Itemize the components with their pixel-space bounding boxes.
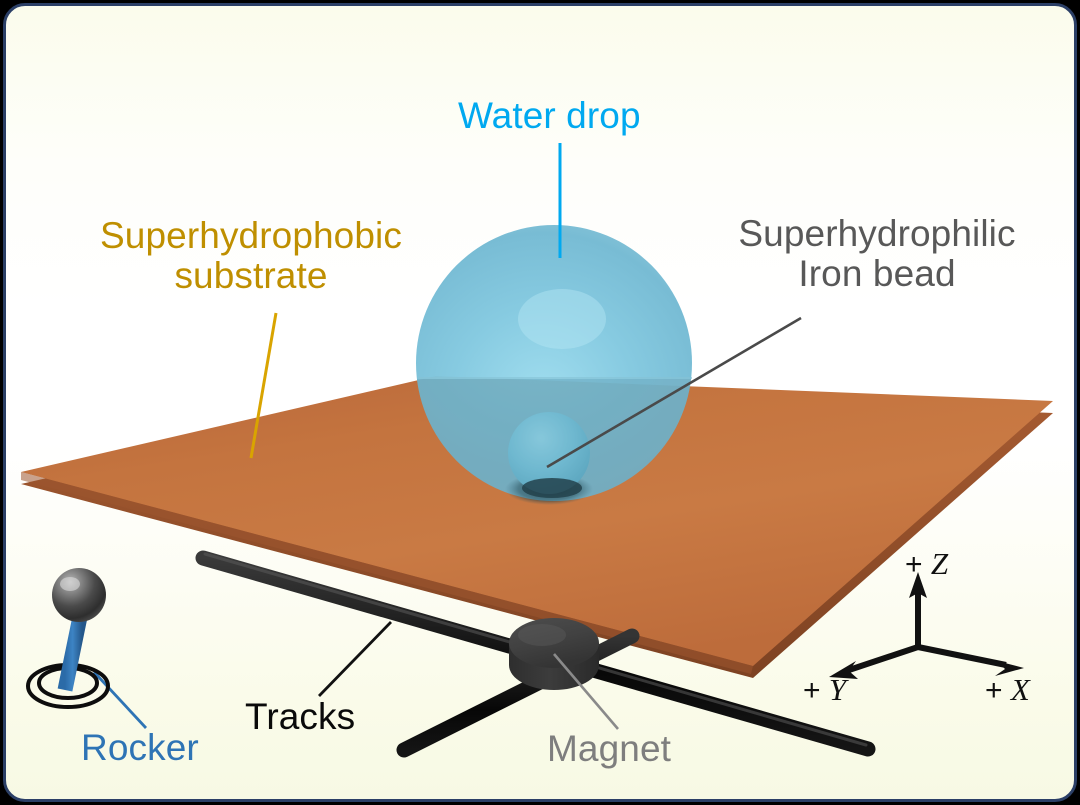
axis-z-sign: +	[905, 548, 923, 581]
water-drop-highlight	[518, 289, 606, 349]
axis-label-x: + X	[985, 672, 1030, 708]
axis-x-sign: +	[985, 674, 1003, 707]
label-superhydrophilic-iron-bead: Superhydrophilic Iron bead	[712, 214, 1042, 294]
rocker-knob[interactable]	[52, 568, 106, 622]
figure-frame: Water drop Superhydrophobic substrate Su…	[0, 0, 1080, 805]
rocker[interactable]	[28, 568, 108, 707]
label-water-drop: Water drop	[458, 96, 641, 136]
axis-x-line	[918, 647, 1006, 665]
label-rocker: Rocker	[81, 728, 199, 768]
rocker-knob-highlight	[60, 577, 80, 591]
label-tracks: Tracks	[245, 697, 355, 737]
axis-x-letter: X	[1011, 672, 1030, 707]
axis-y-letter: Y	[829, 672, 846, 707]
label-magnet: Magnet	[547, 729, 671, 769]
label-superhydrophobic-substrate: Superhydrophobic substrate	[76, 216, 426, 296]
axis-label-z: + Z	[905, 546, 948, 582]
axis-z-letter: Z	[931, 546, 948, 581]
axis-y-line	[846, 647, 918, 671]
figure-card: Water drop Superhydrophobic substrate Su…	[3, 3, 1077, 802]
coordinate-axes	[829, 572, 1024, 679]
magnet-top-highlight	[518, 624, 566, 646]
leader-rocker	[94, 672, 146, 728]
axis-y-sign: +	[803, 674, 821, 707]
leader-tracks	[319, 622, 391, 696]
axis-label-y: + Y	[803, 672, 846, 708]
